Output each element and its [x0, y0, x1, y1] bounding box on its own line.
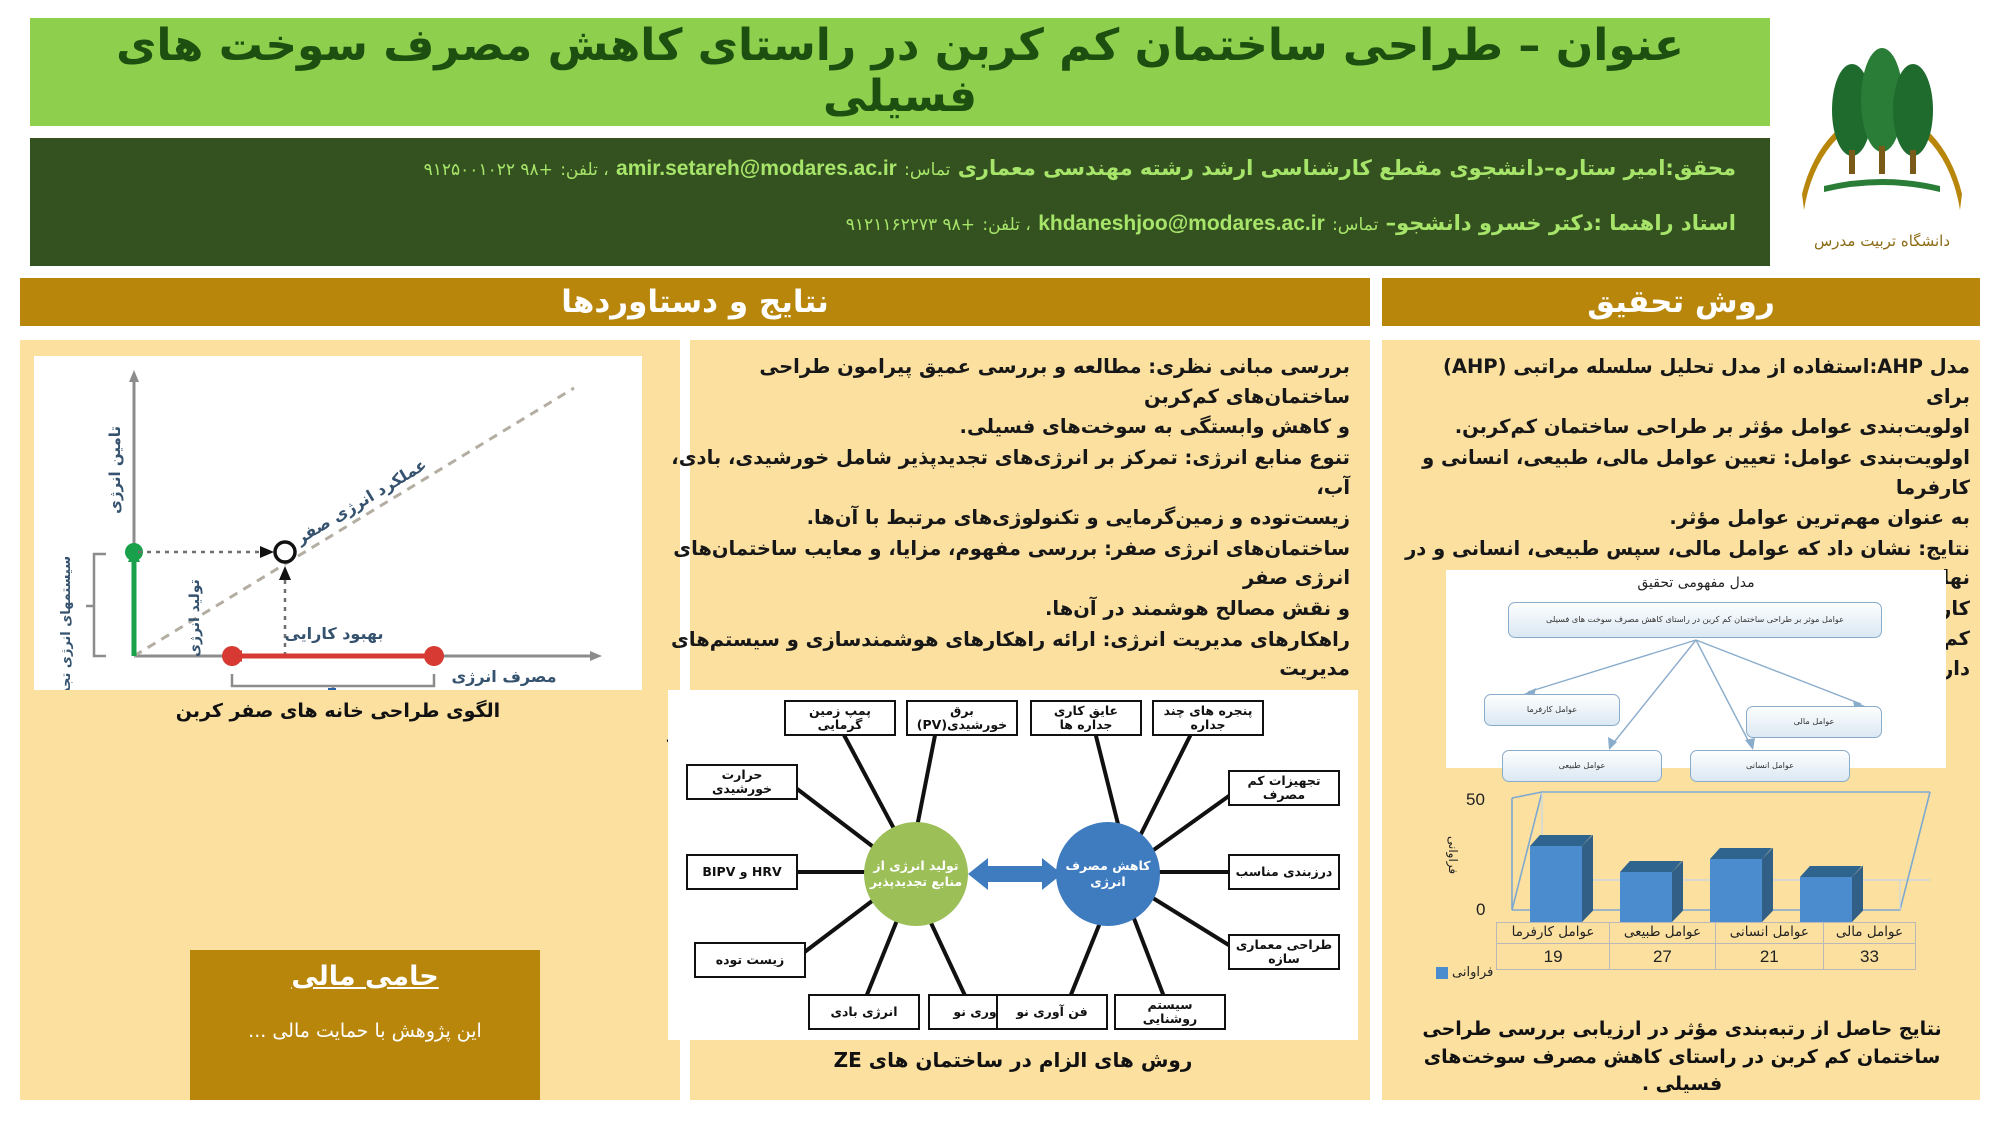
cat-employer: عوامل کارفرما [1497, 923, 1610, 944]
ze-radial-diagram: تولید انرژی از منابع تجدیدپذیر کاهش مصرف… [668, 690, 1358, 1040]
researcher-phone-label: ، تلفن: [560, 160, 609, 180]
authors-band: محقق:امیر ستاره–دانشجوی مقطع کارشناسی ار… [30, 138, 1770, 266]
method-line: مدل AHP:استفاده از مدل تحلیل سلسله مراتب… [1394, 352, 1970, 411]
node-solar-pv: برق خورشیدی(PV) [906, 700, 1018, 736]
chart-plot-area [1508, 792, 1908, 922]
poster-root: عنوان – طراحی ساختمان کم کربن در راستای … [0, 0, 2000, 1125]
node-solar-thermal: حرارت خورشیدی [686, 764, 798, 800]
section-band-method: روش تحقیق [1382, 278, 1980, 326]
sponsor-text: این پژوهش با حمایت مالی ... [248, 1020, 482, 1042]
val-employer: 19 [1497, 943, 1610, 970]
node-low-consumption-equipment: تجهیزات کم مصرف [1228, 770, 1340, 806]
supervisor-contact-label: تماس: [1332, 215, 1378, 235]
ze-renewable-bracket-label: سیستمهای انرژی تجدیدپذیر [59, 556, 74, 690]
results-line: تنوع منابع انرژی: تمرکز بر انرژی‌های تجد… [650, 443, 1350, 502]
zero-energy-graph-figure: تامین انرژی مصرف انرژی عملکرد انرژی صفر … [34, 356, 642, 690]
ze-radial-caption: روش های الزام در ساختمان های ZE [668, 1048, 1358, 1072]
ze-y-axis-label: تامین انرژی [106, 426, 124, 514]
chart-ytick-min: 0 [1476, 900, 1485, 920]
researcher-name: محقق:امیر ستاره–دانشجوی مقطع کارشناسی ار… [958, 156, 1736, 180]
legend-label: فراوانی [1452, 965, 1493, 980]
researcher-email[interactable]: amir.setareh@modares.ac.ir [616, 157, 897, 180]
ze-efficiency-label: بهبود کارایی [284, 624, 383, 643]
poster-title-band: عنوان – طراحی ساختمان کم کربن در راستای … [30, 18, 1770, 126]
chart-y-axis-label: فراوانی [1442, 836, 1460, 874]
sponsor-body: این پژوهش با حمایت مالی ... [190, 1002, 540, 1100]
cat-human: عوامل انسانی [1715, 923, 1823, 944]
supervisor-phone-label: ، تلفن: [982, 215, 1031, 235]
node-multi-pane-windows: پنجره های چند جداره [1152, 700, 1264, 736]
chart-ytick-max: 50 [1466, 790, 1485, 810]
frequency-bar-chart: فراوانی 50 0 [1436, 788, 1960, 1014]
researcher-contact-label: تماس: [904, 160, 950, 180]
results-line: زیست‌توده و زمین‌گرمایی و تکنولوژی‌های م… [650, 503, 1350, 533]
val-human: 21 [1715, 943, 1823, 970]
bar-employer [1800, 877, 1852, 922]
results-line: بررسی مبانی نظری: مطالعه و بررسی عمیق پی… [650, 352, 1350, 411]
section-title-results: نتایج و دستاوردها [561, 284, 829, 320]
concept-node-employer: عوامل کارفرما [1484, 694, 1620, 726]
node-wind-energy: انرژی بادی [808, 994, 920, 1030]
table-row-categories: عوامل مالی عوامل انسانی عوامل طبیعی عوام… [1497, 923, 1916, 944]
sponsor-title: حامی مالی [291, 961, 438, 992]
cat-financial: عوامل مالی [1823, 923, 1915, 944]
method-line: اولویت‌بندی عوامل مؤثر بر طراحی ساختمان … [1394, 412, 1970, 442]
plus-icon [320, 688, 344, 690]
hub-energy-generation: تولید انرژی از منابع تجدیدپذیر [864, 822, 968, 926]
researcher-phone: +۹۸ ۹۱۲۵۰۰۱۰۲۲ [424, 160, 553, 180]
concept-root-node: عوامل موثر بر طراحی ساختمان کم کربن در ر… [1508, 602, 1882, 638]
val-financial: 33 [1823, 943, 1915, 970]
page-title: عنوان – طراحی ساختمان کم کربن در راستای … [30, 21, 1770, 122]
node-geothermal-pump: پمپ زمین گرمایی [784, 700, 896, 736]
method-line: اولویت‌بندی عوامل: تعیین عوامل مالی، طبی… [1394, 443, 1970, 502]
results-line: و کاهش وابستگی به سوخت‌های فسیلی. [650, 412, 1350, 442]
cat-natural: عوامل طبیعی [1610, 923, 1716, 944]
section-title-method: روش تحقیق [1587, 284, 1775, 320]
method-line: به عنوان مهم‌ترین عوامل مؤثر. [1394, 503, 1970, 533]
university-logo: دانشگاه تربیت مدرس [1772, 8, 1992, 270]
supervisor-name: استاد راهنما :دکتر خسرو دانشجو– [1386, 211, 1736, 235]
node-proper-sealing: درزبندی مناسب [1228, 854, 1340, 890]
ze-graph-caption: الگوی طراحی خانه های صفر کربن [34, 700, 642, 722]
ze-generation-label: تولید انرژی [187, 579, 203, 657]
supervisor-email[interactable]: khdaneshjoo@modares.ac.ir [1038, 212, 1325, 235]
chart-legend: فراوانی [1436, 965, 1498, 980]
bar-human [1620, 872, 1672, 922]
bar-natural [1710, 859, 1762, 922]
concept-node-natural: عوامل طبیعی [1502, 750, 1662, 782]
zero-energy-graph-svg: تامین انرژی مصرف انرژی عملکرد انرژی صفر … [34, 356, 642, 690]
node-architectural-design: طراحی معماری سازه [1228, 934, 1340, 970]
node-lighting-system: سیستم روشنایی [1114, 994, 1226, 1030]
supervisor-phone: +۹۸ ۹۱۲۱۱۶۲۲۷۳ [846, 215, 975, 235]
concept-node-financial: عوامل مالی [1746, 706, 1882, 738]
researcher-line: محقق:امیر ستاره–دانشجوی مقطع کارشناسی ار… [64, 154, 1736, 183]
hub-energy-reduction: کاهش مصرف انرژی [1056, 822, 1160, 926]
bidirectional-arrow-icon [968, 858, 1062, 890]
logo-caption-text: دانشگاه تربیت مدرس [1814, 232, 1950, 250]
conceptual-model-connectors [1446, 570, 1946, 768]
results-line: ساختمان‌های انرژی صفر: بررسی مفهوم، مزای… [650, 534, 1350, 593]
node-biomass: زیست توده [694, 942, 806, 978]
ze-diagonal-label: عملکرد انرژی صفر [292, 455, 430, 549]
section-band-results: نتایج و دستاوردها [20, 278, 1370, 326]
chart-caption: نتایج حاصل از رتبه‌بندی مؤثر در ارزیابی … [1394, 1016, 1970, 1099]
concept-node-human: عوامل انسانی [1690, 750, 1850, 782]
chart-category-table: عوامل مالی عوامل انسانی عوامل طبیعی عوام… [1496, 922, 1916, 970]
legend-swatch-icon [1436, 967, 1448, 979]
conceptual-model-figure: مدل مفهومی تحقیق عوامل موثر بر طراحی ساخ… [1446, 570, 1946, 768]
table-row-values: 33 21 27 19 [1497, 943, 1916, 970]
node-new-technology-right: فن آوری نو [996, 994, 1108, 1030]
val-natural: 27 [1610, 943, 1716, 970]
supervisor-line: استاد راهنما :دکتر خسرو دانشجو– تماس: kh… [64, 209, 1736, 238]
results-line: و نقش مصالح هوشمند در آن‌ها. [650, 594, 1350, 624]
sponsor-title-band: حامی مالی [190, 950, 540, 1002]
tarbiat-modares-logo-icon: دانشگاه تربیت مدرس [1782, 14, 1982, 264]
node-wall-insulation: عایق کاری جداره ها [1030, 700, 1142, 736]
results-line: راهکارهای مدیریت انرژی: ارائه راهکارهای … [650, 625, 1350, 684]
node-bipv-hrv: HRV و BIPV [686, 854, 798, 890]
ze-x-axis-label: مصرف انرژی [451, 667, 556, 686]
bar-financial [1530, 846, 1582, 922]
